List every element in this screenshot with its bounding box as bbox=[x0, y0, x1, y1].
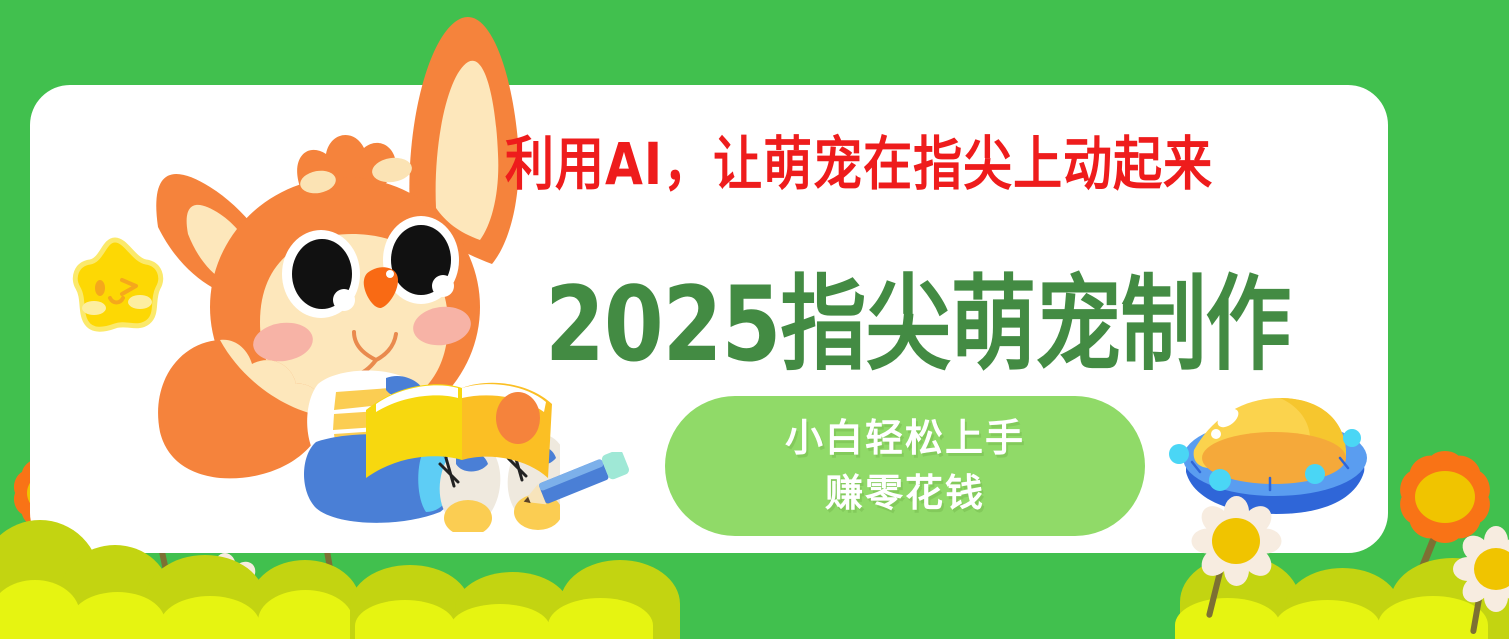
pill-line-1: 小白轻松上手 bbox=[785, 411, 1025, 466]
headline-text: 利用AI，让萌宠在指尖上动起来 bbox=[505, 118, 1213, 202]
star-character bbox=[60, 232, 170, 342]
fox-illustration bbox=[140, 12, 560, 532]
winking-star-icon bbox=[60, 232, 170, 342]
page-title: 2025指尖萌宠制作 bbox=[545, 240, 1290, 390]
pencil-icon bbox=[510, 452, 640, 512]
pill-line-2: 赚零花钱 bbox=[825, 466, 985, 521]
fox-character bbox=[140, 12, 560, 532]
subtitle-pill: 小白轻松上手 赚零花钱 bbox=[665, 396, 1145, 536]
poster-canvas: 利用AI，让萌宠在指尖上动起来 2025指尖萌宠制作 小白轻松上手 赚零花钱 bbox=[0, 0, 1509, 639]
pencil-illustration bbox=[510, 452, 640, 512]
